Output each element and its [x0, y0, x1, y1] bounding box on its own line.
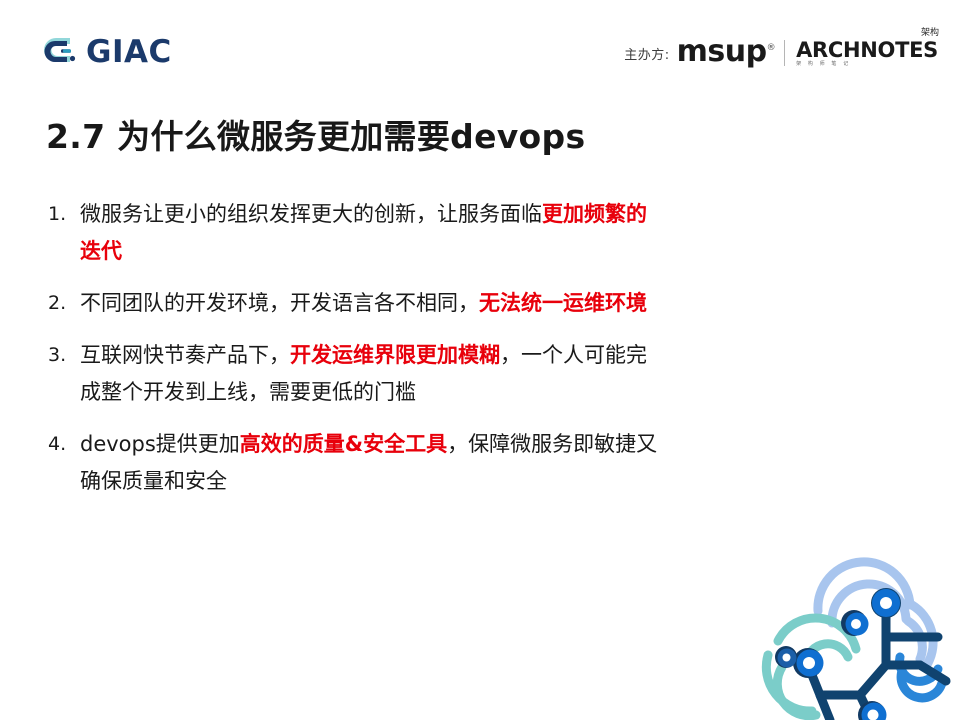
list-item-text: devops提供更加高效的质量&安全工具，保障微服务即敏捷又确保质量和安全 [80, 426, 666, 500]
archnotes-logo: 架构 ARCHNOTES 架 构 师 笔 记 [796, 40, 938, 67]
list-item: 2.不同团队的开发环境，开发语言各不相同，无法统一运维环境 [46, 285, 666, 322]
list-item-text: 不同团队的开发环境，开发语言各不相同，无法统一运维环境 [80, 285, 666, 322]
list-item: 3.互联网快节奏产品下，开发运维界限更加模糊，一个人可能完成整个开发到上线，需要… [46, 337, 666, 411]
archnotes-subtitle: 架 构 师 笔 记 [796, 62, 851, 67]
list-item: 4.devops提供更加高效的质量&安全工具，保障微服务即敏捷又确保质量和安全 [46, 426, 666, 500]
archnotes-cn-label: 架构 [921, 29, 939, 38]
msup-wordmark-text: msup [677, 34, 767, 69]
plain-text: devops提供更加 [80, 432, 240, 456]
list-item-text: 互联网快节奏产品下，开发运维界限更加模糊，一个人可能完成整个开发到上线，需要更低… [80, 337, 666, 411]
sponsor-label: 主办方: [624, 44, 669, 63]
list-item-number: 4. [46, 426, 80, 463]
registered-mark-icon: ® [767, 43, 776, 53]
list-item-number: 3. [46, 337, 80, 374]
slide-canvas: GIAC 主办方: msup® 架构 ARCHNOTES 架 构 师 笔 记 2… [0, 0, 960, 720]
list-item-text: 微服务让更小的组织发挥更大的创新，让服务面临更加频繁的迭代 [80, 196, 666, 270]
highlight-text: 开发运维界限更加模糊 [290, 343, 500, 367]
sponsor-block: 主办方: msup® 架构 ARCHNOTES 架 构 师 笔 记 [624, 36, 938, 70]
bullet-list: 1.微服务让更小的组织发挥更大的创新，让服务面临更加频繁的迭代2.不同团队的开发… [46, 196, 666, 515]
list-item-number: 1. [46, 196, 80, 233]
giac-logo: GIAC [44, 30, 172, 74]
highlight-text: 无法统一运维环境 [479, 291, 647, 315]
sponsor-divider [784, 40, 785, 66]
list-item: 1.微服务让更小的组织发挥更大的创新，让服务面临更加频繁的迭代 [46, 196, 666, 270]
list-item-number: 2. [46, 285, 80, 322]
giac-wordmark: GIAC [86, 37, 172, 68]
archnotes-wordmark: ARCHNOTES [796, 40, 938, 61]
plain-text: 互联网快节奏产品下， [80, 343, 290, 367]
network-nodes [775, 588, 901, 720]
msup-logo: msup® [677, 37, 775, 67]
giac-bracket-mark-icon [44, 34, 84, 70]
plain-text: 微服务让更小的组织发挥更大的创新，让服务面临 [80, 202, 542, 226]
network-nodes-graphic-icon [760, 545, 960, 720]
page-title: 2.7 为什么微服务更加需要devops [46, 110, 585, 158]
slide-header: GIAC 主办方: msup® 架构 ARCHNOTES 架 构 师 笔 记 [0, 0, 960, 96]
highlight-text: 高效的质量&安全工具 [240, 432, 447, 456]
plain-text: 不同团队的开发环境，开发语言各不相同， [80, 291, 479, 315]
